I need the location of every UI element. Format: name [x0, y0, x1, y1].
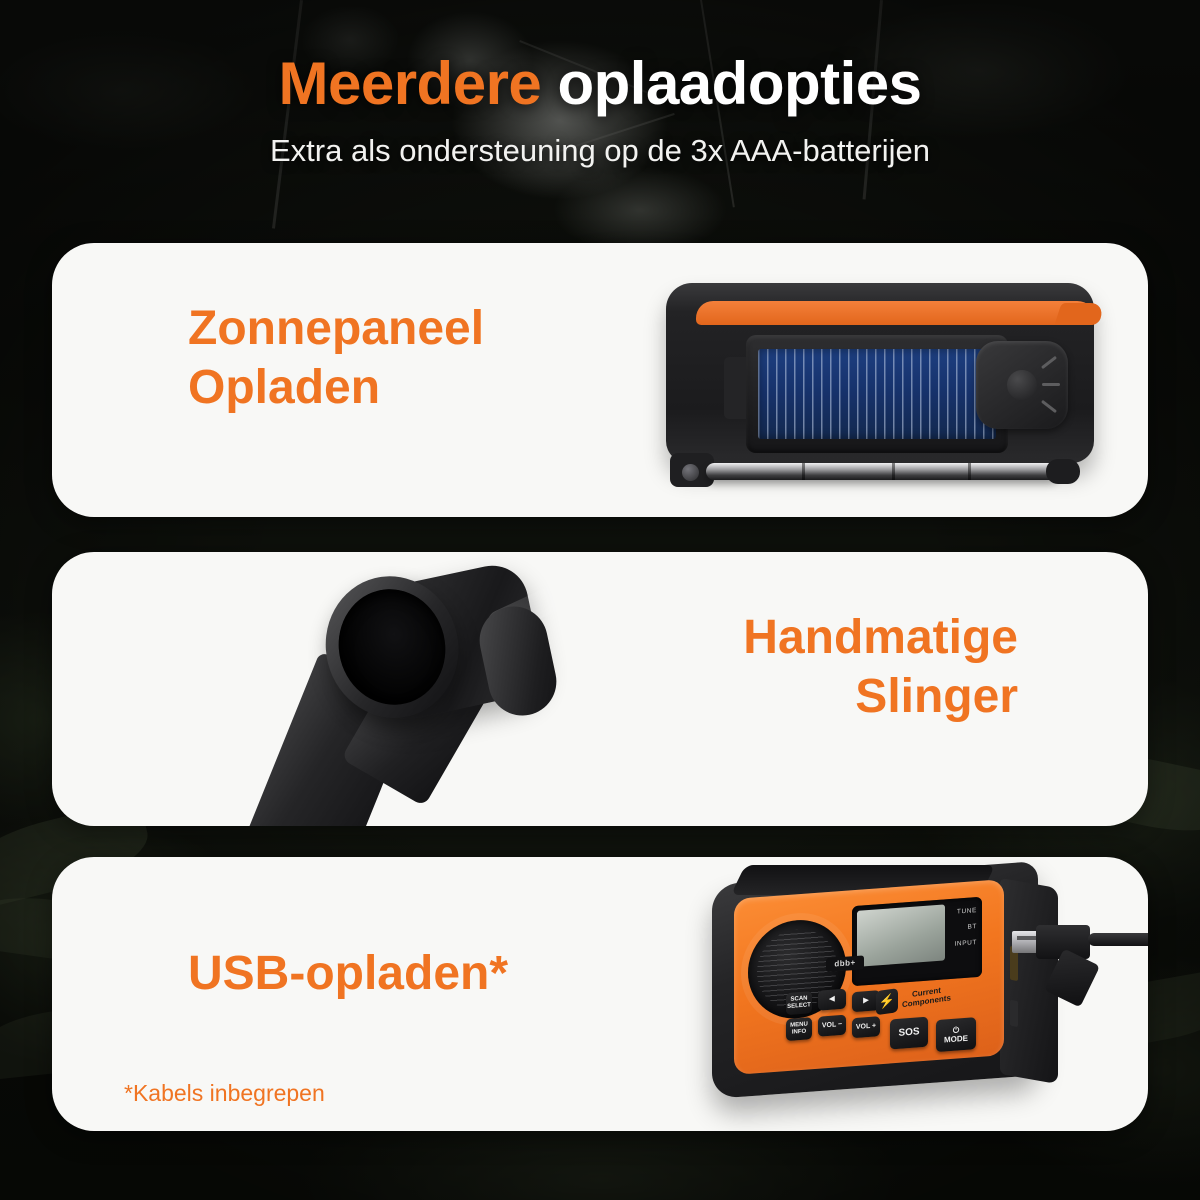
crank-handle-image — [288, 554, 628, 826]
knob-tick — [1042, 383, 1060, 386]
orange-trim — [696, 301, 1096, 325]
title-rest: oplaadopties — [541, 50, 921, 117]
dial-knob — [976, 341, 1068, 429]
dbb-badge: dbb+ — [826, 955, 864, 972]
antenna-screw — [682, 464, 699, 481]
feature-card-usb: USB-opladen* *Kabels inbegrepen TUNE BT … — [52, 857, 1148, 1131]
usb-radio-image: TUNE BT INPUT dbb+ SCANSELECT ◀ ▶ MENUIN… — [700, 859, 1148, 1131]
sos-button[interactable]: SOS — [890, 1017, 928, 1050]
solar-radio-image — [644, 257, 1114, 507]
antenna-tip — [1046, 459, 1080, 484]
radio-front-face: TUNE BT INPUT dbb+ SCANSELECT ◀ ▶ MENUIN… — [734, 879, 1004, 1075]
brand-name: Current Components — [902, 985, 951, 1010]
brand-mark-icon: ⚡ — [876, 988, 898, 1015]
power-mode-button[interactable]: ⏻MODE — [936, 1017, 976, 1052]
knob-tick — [1041, 400, 1057, 413]
promo-image: Meerdere oplaadopties Extra als onderste… — [0, 0, 1200, 1200]
crank-end-cap — [473, 600, 562, 722]
header: Meerdere oplaadopties Extra als onderste… — [0, 52, 1200, 169]
vol-down-button[interactable]: VOL − — [818, 1015, 846, 1037]
antenna-segment — [968, 463, 971, 480]
lcd-screen — [857, 904, 945, 966]
footnote: *Kabels inbegrepen — [124, 1080, 325, 1107]
card-label-usb: USB-opladen* — [188, 945, 508, 1004]
indicator-tune: TUNE — [957, 907, 977, 915]
display-panel: TUNE BT INPUT — [852, 897, 982, 987]
scan-select-button[interactable]: SCANSELECT — [786, 991, 812, 1015]
page-subtitle: Extra als ondersteuning op de 3x AAA-bat… — [0, 133, 1200, 169]
card-label-solar: Zonnepaneel Opladen — [188, 300, 484, 417]
indicator-input: INPUT — [955, 939, 978, 948]
knob-center — [1007, 370, 1037, 400]
card-label-crank: Handmatige Slinger — [743, 609, 1018, 726]
page-title: Meerdere oplaadopties — [0, 52, 1200, 115]
aux-port — [1010, 1000, 1018, 1027]
usb-cable — [1088, 933, 1148, 946]
telescopic-antenna — [706, 463, 1058, 480]
title-highlight: Meerdere — [278, 50, 541, 117]
solar-bezel — [746, 335, 1008, 453]
vol-up-button[interactable]: VOL + — [852, 1016, 880, 1038]
knob-tick — [1041, 356, 1057, 369]
indicator-bt: BT — [967, 923, 977, 931]
feature-card-solar: Zonnepaneel Opladen — [52, 243, 1148, 517]
radio-body — [666, 283, 1094, 463]
crank-bore — [327, 578, 458, 716]
antenna-segment — [802, 463, 805, 480]
antenna-segment — [892, 463, 895, 480]
solar-panel — [758, 349, 996, 439]
feature-card-crank: Handmatige Slinger — [52, 552, 1148, 826]
menu-info-button[interactable]: MENUINFO — [786, 1017, 812, 1041]
prev-button[interactable]: ◀ — [818, 989, 846, 1011]
